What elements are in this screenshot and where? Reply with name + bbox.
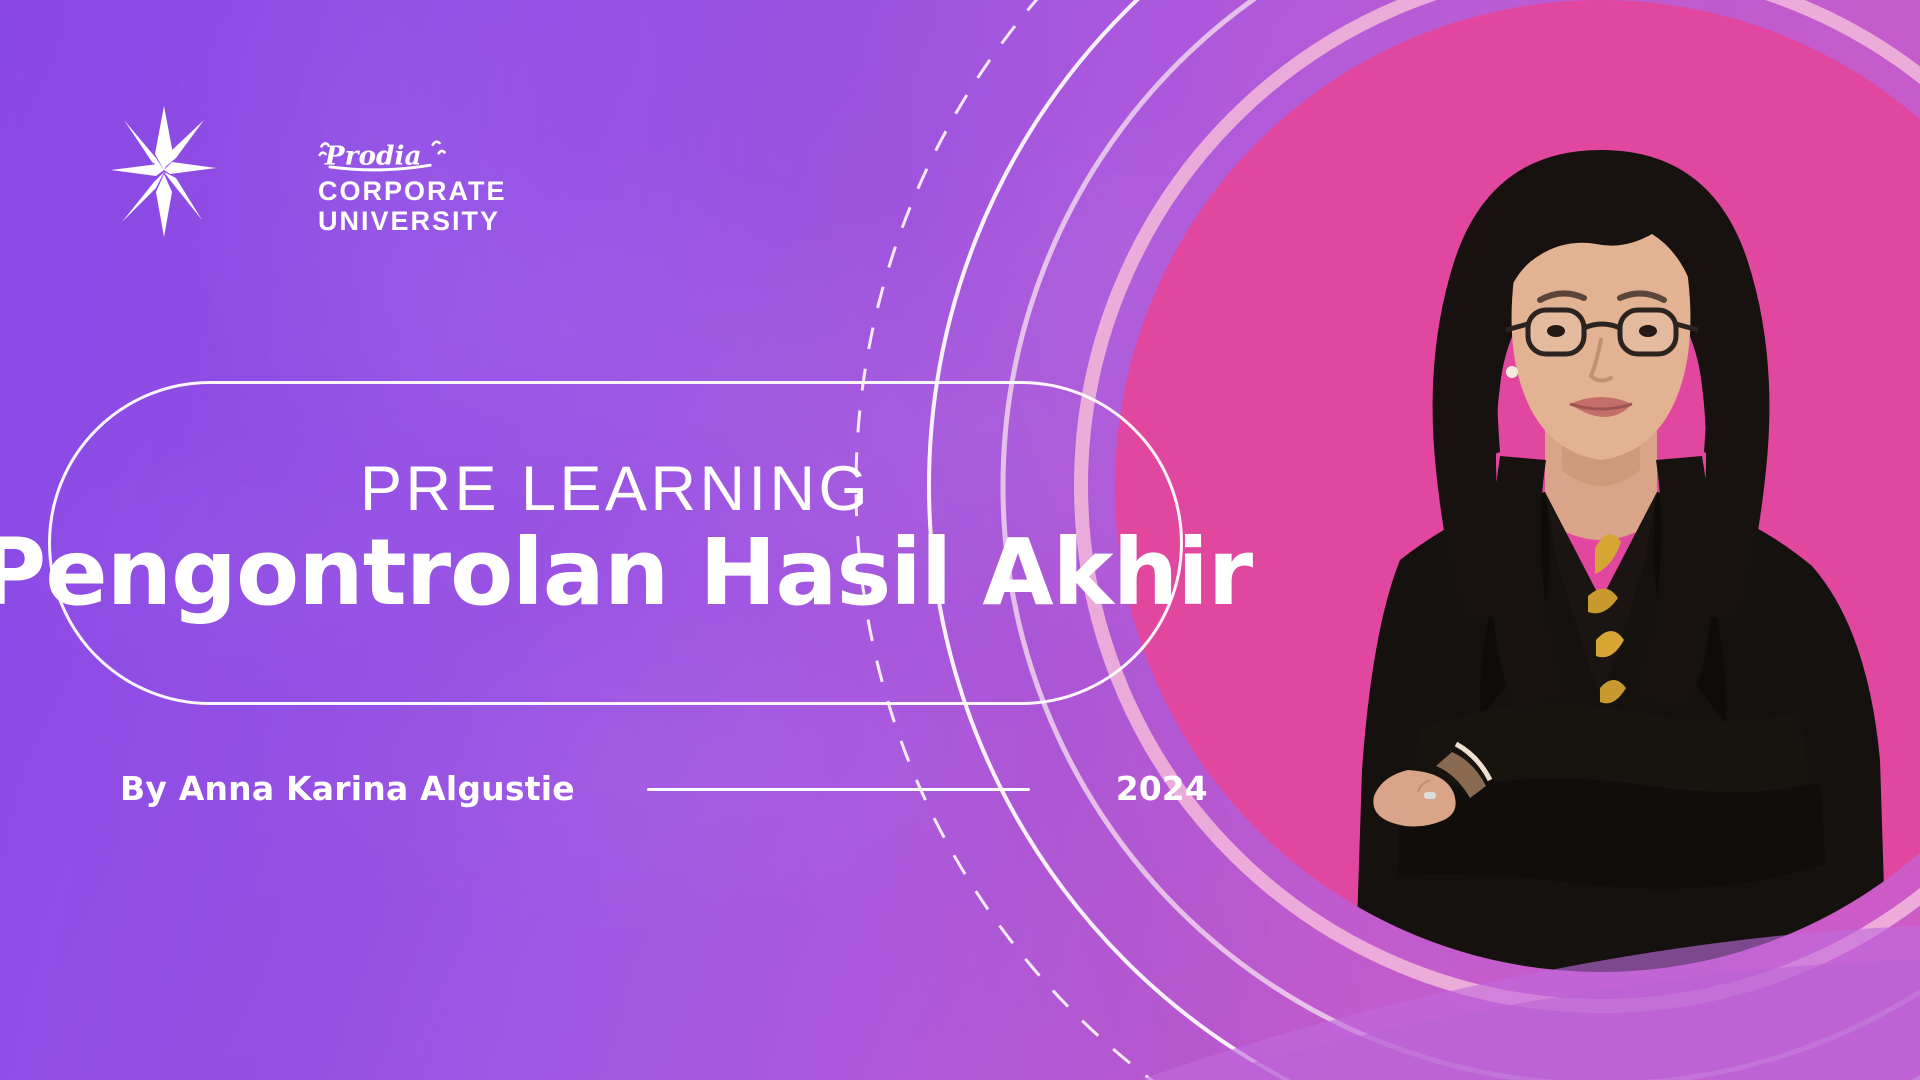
brand-wordmark: Prodia CORPORATE UNIVERSITY: [318, 138, 518, 236]
title-headline: Pengontrolan Hasil Akhir: [0, 524, 1252, 622]
footer-row: By Anna Karina Algustie 2024: [120, 765, 1130, 813]
brand-line-university: UNIVERSITY: [318, 206, 518, 236]
brand-logo: Prodia CORPORATE UNIVERSITY: [110, 104, 400, 244]
prodia-star-mark: [110, 104, 218, 239]
prodia-script-logotype: Prodia: [318, 138, 497, 172]
author-byline: By Anna Karina Algustie: [120, 769, 575, 809]
footer-divider-line: [647, 788, 1030, 791]
brand-line-corporate: CORPORATE: [318, 176, 518, 206]
title-block: PRE LEARNING Pengontrolan Hasil Akhir: [48, 381, 1183, 705]
footer-year: 2024: [1116, 769, 1208, 809]
title-kicker: PRE LEARNING: [360, 456, 871, 522]
slide-canvas: Prodia CORPORATE UNIVERSITY PRE LEARNING…: [0, 0, 1920, 1080]
